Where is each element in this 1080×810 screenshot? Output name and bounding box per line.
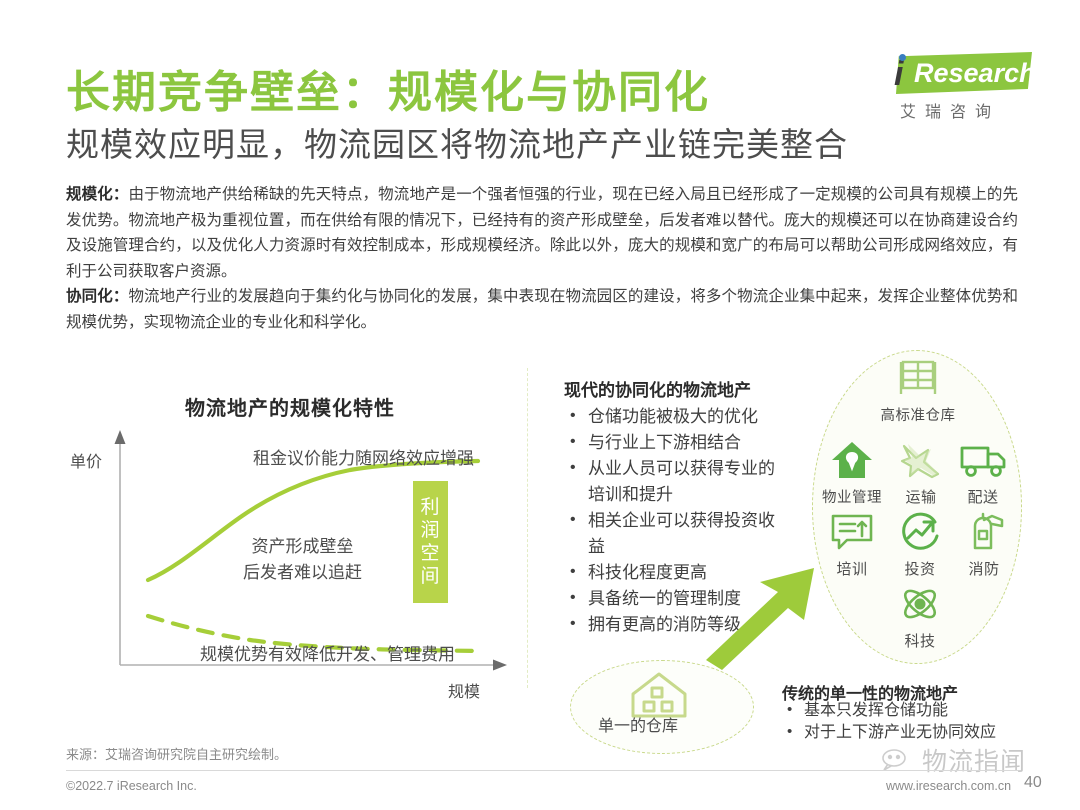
chart-title: 物流地产的规模化特性 <box>185 392 395 421</box>
watermark: 物流指闻 <box>880 742 1026 778</box>
single-warehouse-label: 单一的仓库 <box>598 712 678 736</box>
icon-label: 配送 <box>952 486 1014 507</box>
profit-gap-char-2: 润 <box>420 519 440 542</box>
chart-annotation-middle-line1: 资产形成壁垒 <box>243 534 362 560</box>
paragraph-scale-text: 由于物流地产供给稀缺的先天特点，物流地产是一个强者恒强的行业，现在已经入局且已经… <box>66 186 1018 280</box>
house-icon <box>830 440 874 480</box>
warehouse-rack-icon <box>895 358 941 398</box>
icon-label: 运输 <box>893 486 949 507</box>
profit-gap-char-3: 空 <box>420 542 440 565</box>
paragraph-synergy-text: 物流地产行业的发展趋向于集约化与协同化的发展，集中表现在物流园区的建设，将多个物… <box>66 288 1018 331</box>
source-note: 来源：艾瑞咨询研究院自主研究绘制。 <box>66 744 287 763</box>
chart-y-axis-label: 单价 <box>70 448 102 472</box>
traditional-bullet-list: 基本只发挥仓储功能 对于上下游产业无协同效应 <box>784 700 1034 744</box>
icon-cell-warehouse-rack: 高标准仓库 <box>879 358 957 425</box>
icon-label: 投资 <box>888 558 952 579</box>
training-icon <box>829 512 875 552</box>
icon-cell-delivery: 配送 <box>952 440 1014 507</box>
airplane-icon <box>898 440 944 480</box>
chart-annotation-bottom: 规模优势有效降低开发、管理费用 <box>200 640 455 665</box>
paragraph-scale: 规模化：由于物流地产供给稀缺的先天特点，物流地产是一个强者恒强的行业，现在已经入… <box>66 182 1018 284</box>
logo-wordmark: Research <box>914 58 1036 89</box>
watermark-text: 物流指闻 <box>922 742 1026 778</box>
icon-label: 科技 <box>888 630 952 651</box>
truck-icon <box>958 440 1008 480</box>
icon-label: 高标准仓库 <box>879 404 957 425</box>
list-item: 相关企业可以获得投资收益 <box>566 508 781 560</box>
chart-y-arrowhead <box>115 430 126 444</box>
iresearch-logo: i Research 艾瑞咨询 <box>872 52 1032 124</box>
footer-divider <box>66 770 1018 771</box>
paragraph-synergy-lead: 协同化： <box>66 288 128 305</box>
slide-canvas: 长期竞争壁垒：规模化与协同化 规模效应明显，物流园区将物流地产产业链完美整合 i… <box>0 0 1080 810</box>
icon-cell-investment: 投资 <box>888 512 952 579</box>
list-item: 仓储功能被极大的优化 <box>566 404 781 430</box>
chart-annotation-middle: 资产形成壁垒 后发者难以追赶 <box>243 534 362 586</box>
paragraph-scale-lead: 规模化： <box>66 186 128 203</box>
chart-x-axis-label: 规模 <box>448 678 480 702</box>
icon-cell-technology: 科技 <box>888 584 952 651</box>
upward-arrow-icon <box>700 560 825 670</box>
page-number: 40 <box>1024 774 1042 792</box>
page-subtitle: 规模效应明显，物流园区将物流地产产业链完美整合 <box>66 118 848 166</box>
icon-cell-fire-safety: 消防 <box>952 512 1016 579</box>
icon-label: 消防 <box>952 558 1016 579</box>
list-item: 与行业上下游相结合 <box>566 430 781 456</box>
chart-annotation-middle-line2: 后发者难以追赶 <box>243 560 362 586</box>
fire-extinguisher-icon <box>962 512 1006 552</box>
page-title: 长期竞争壁垒：规模化与协同化 <box>66 56 710 120</box>
logo-letter-i: i <box>894 57 903 91</box>
investment-icon <box>898 512 942 552</box>
body-paragraphs: 规模化：由于物流地产供给稀缺的先天特点，物流地产是一个强者恒强的行业，现在已经入… <box>66 182 1018 335</box>
profit-gap-char-4: 间 <box>420 565 440 588</box>
list-item: 基本只发挥仓储功能 <box>784 700 1034 722</box>
icon-cell-transport: 运输 <box>893 440 949 507</box>
website-url: www.iresearch.com.cn <box>886 779 1011 793</box>
chart-x-arrowhead <box>493 660 507 671</box>
logo-chinese-name: 艾瑞咨询 <box>900 98 1000 122</box>
profit-gap-bar: 利 润 空 间 <box>413 481 448 603</box>
atom-icon <box>898 584 942 624</box>
paragraph-synergy: 协同化：物流地产行业的发展趋向于集约化与协同化的发展，集中表现在物流园区的建设，… <box>66 284 1018 335</box>
icon-label: 物业管理 <box>812 486 892 507</box>
profit-gap-char-1: 利 <box>420 496 440 519</box>
modern-section-title: 现代的协同化的物流地产 <box>564 376 751 401</box>
copyright-text: ©2022.7 iResearch Inc. <box>66 779 197 793</box>
chart-annotation-top: 租金议价能力随网络效应增强 <box>253 444 474 469</box>
icon-label: 培训 <box>820 558 884 579</box>
logo-dot-icon <box>899 54 906 61</box>
icon-cell-training: 培训 <box>820 512 884 579</box>
icon-cell-property-management: 物业管理 <box>812 440 892 507</box>
list-item: 对于上下游产业无协同效应 <box>784 722 1034 744</box>
list-item: 从业人员可以获得专业的培训和提升 <box>566 456 781 508</box>
